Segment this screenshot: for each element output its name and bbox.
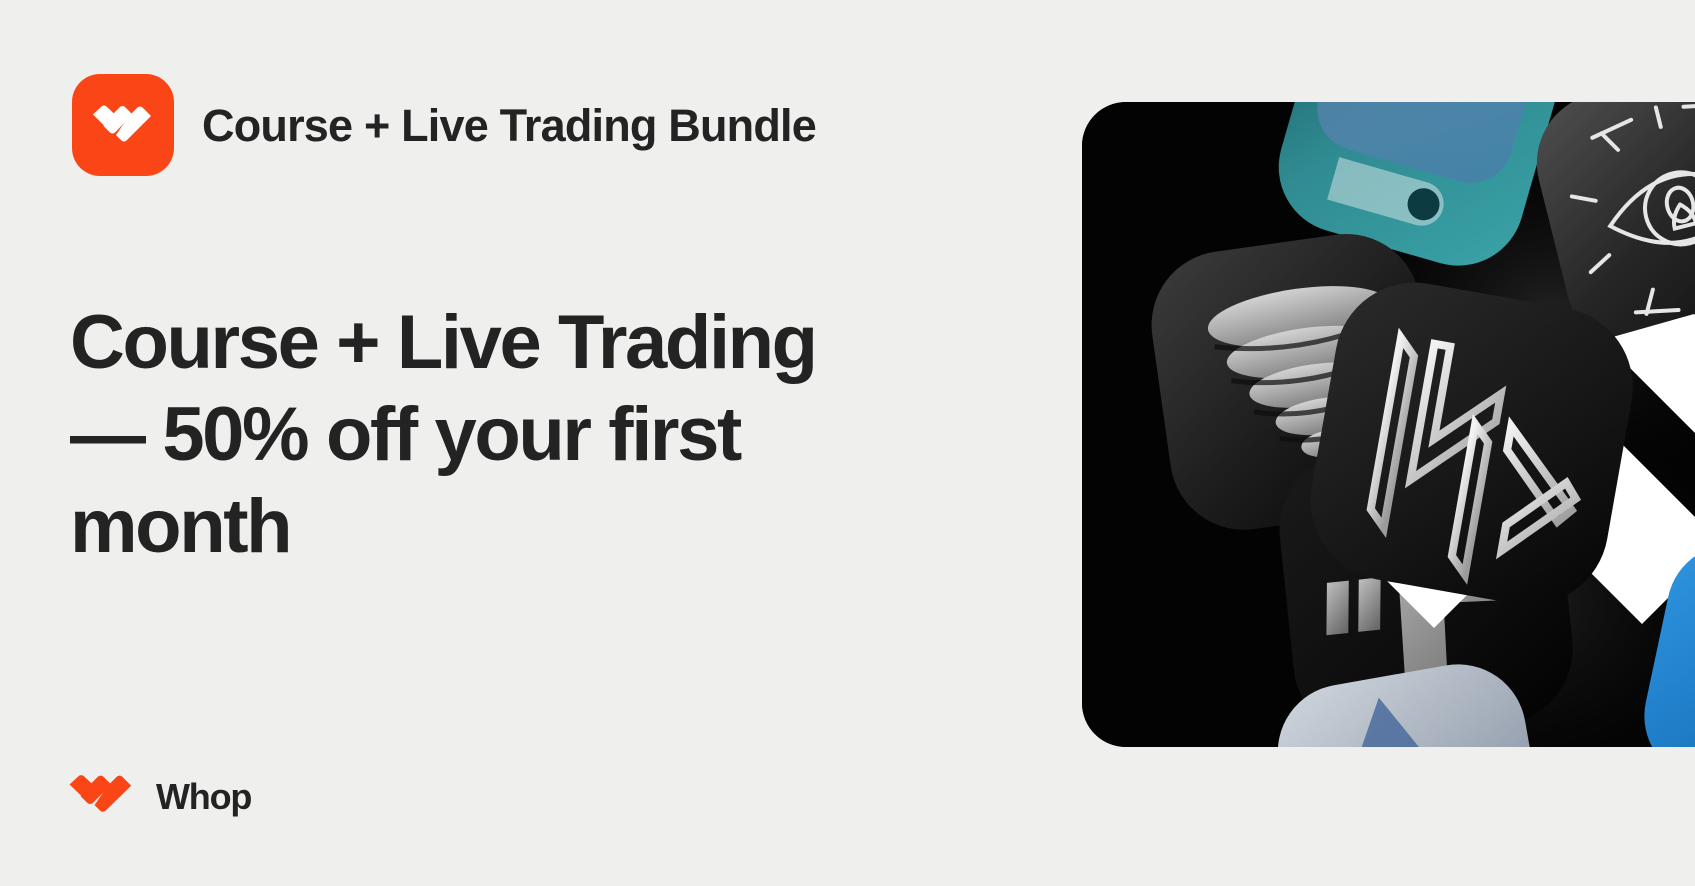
whop-wordmark: Whop: [156, 779, 251, 815]
hero-headline: Course + Live Trading — 50% off your fir…: [70, 297, 900, 573]
page-title: Course + Live Trading Bundle: [202, 103, 816, 148]
whop-logo-mark: [68, 774, 140, 819]
promo-artwork: [1082, 102, 1695, 747]
promo-banner: Course + Live Trading Bundle Course + Li…: [0, 0, 1695, 886]
whop-app-icon: [72, 74, 174, 176]
left-content-column: Course + Live Trading Bundle Course + Li…: [0, 0, 1000, 886]
whop-footer-logo[interactable]: Whop: [68, 774, 251, 819]
brand-row: Course + Live Trading Bundle: [72, 74, 816, 176]
w-monogram-icon-tile: [1298, 270, 1646, 618]
